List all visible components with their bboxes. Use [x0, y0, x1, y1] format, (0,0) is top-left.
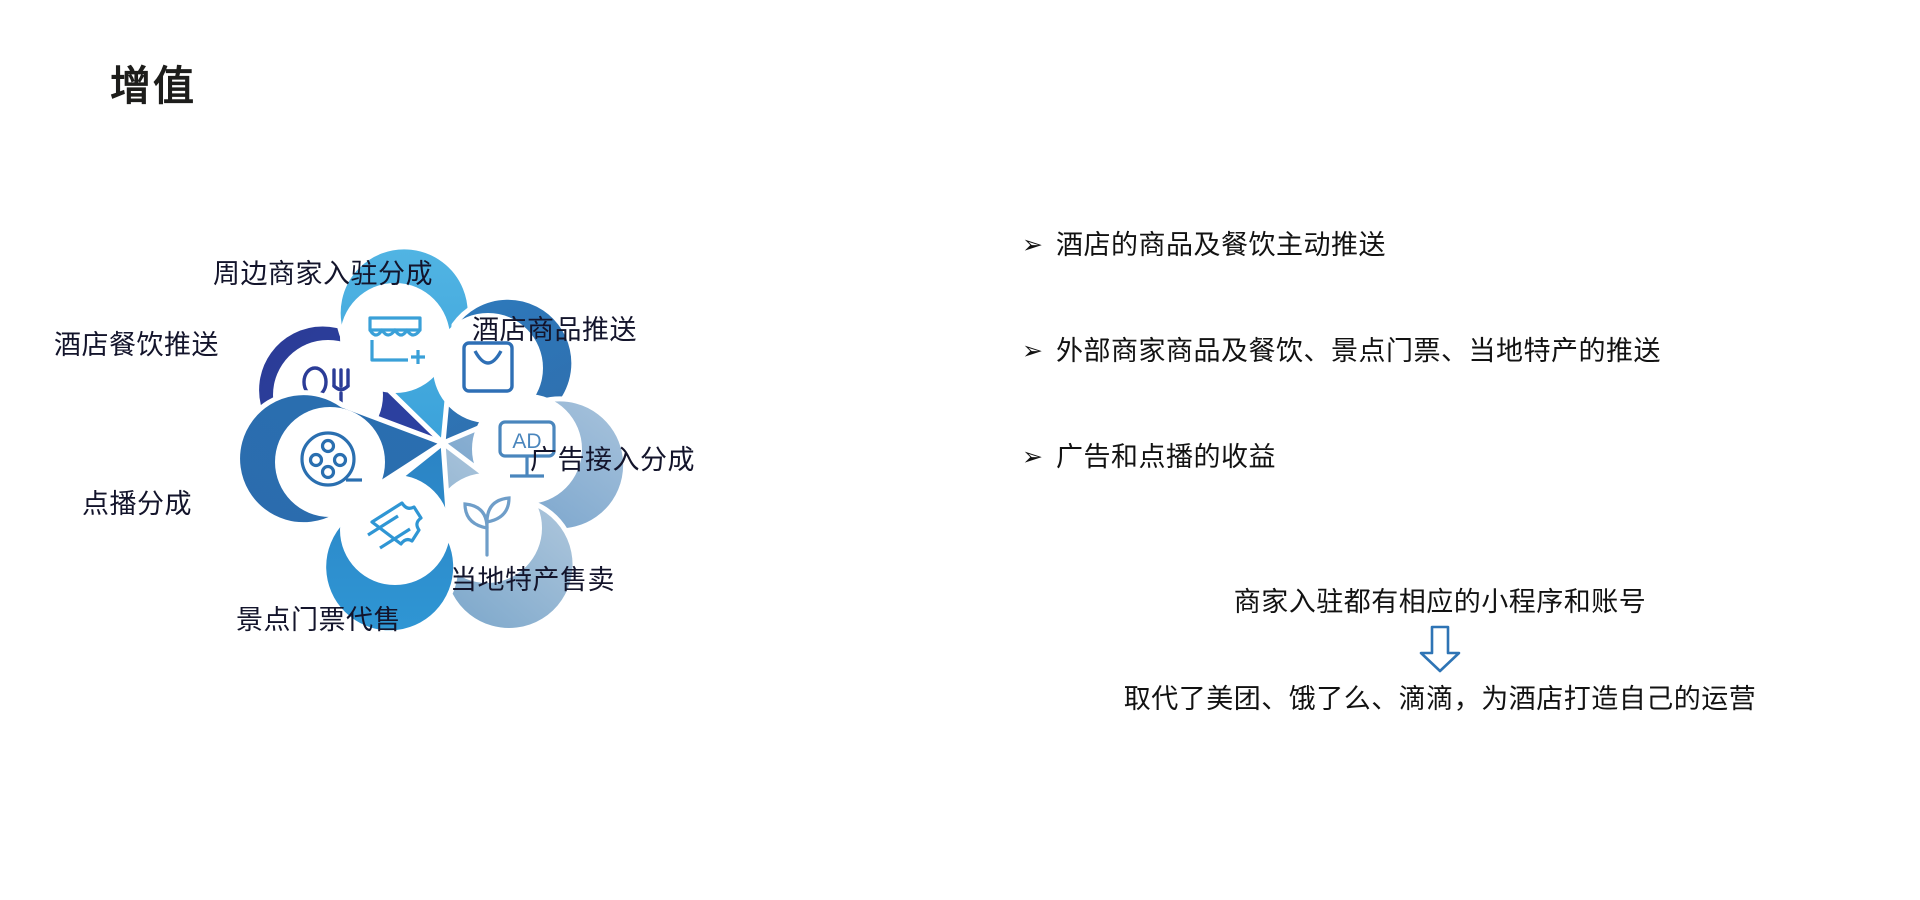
petal-label-local-specialty-sale: 当地特产售卖	[450, 558, 615, 597]
bullet-item: ➢ 酒店的商品及餐饮主动推送	[1022, 228, 1842, 262]
bullet-text: 广告和点播的收益	[1056, 440, 1276, 474]
petal-label-hotel-dining-push: 酒店餐饮推送	[54, 323, 219, 362]
conclusion-block: 商家入驻都有相应的小程序和账号 取代了美团、饿了么、滴滴，为酒店打造自己的运营	[1000, 580, 1880, 716]
conclusion-top-text: 商家入驻都有相应的小程序和账号	[1000, 580, 1880, 619]
conclusion-bottom-text: 取代了美团、饿了么、滴滴，为酒店打造自己的运营	[1000, 677, 1880, 716]
petal-label-attraction-ticket-agency: 景点门票代售	[236, 598, 401, 637]
petal-label-ad-revenue-share: 广告接入分成	[530, 438, 695, 477]
arrow-down-icon	[1417, 625, 1463, 673]
petal-icon-disc	[275, 407, 385, 517]
bullet-item: ➢ 外部商家商品及餐饮、景点门票、当地特产的推送	[1022, 334, 1842, 368]
arrow-bullet-icon: ➢	[1022, 440, 1056, 474]
petal-icon-disc	[340, 283, 450, 393]
six-petal-flower-diagram: AD	[50, 210, 870, 850]
petal-label-hotel-goods-push: 酒店商品推送	[472, 308, 637, 347]
petal-label-vod-revenue-share: 点播分成	[82, 482, 192, 521]
flower-center	[439, 439, 447, 447]
bullet-text: 酒店的商品及餐饮主动推送	[1056, 228, 1386, 262]
arrow-bullet-icon: ➢	[1022, 228, 1056, 262]
flower-svg: AD	[50, 210, 870, 850]
slide-root: 增值	[0, 0, 1920, 900]
petal-label-merchant-settle: 周边商家入驻分成	[213, 252, 433, 291]
bullet-item: ➢ 广告和点播的收益	[1022, 440, 1842, 474]
bullet-text: 外部商家商品及餐饮、景点门票、当地特产的推送	[1056, 334, 1661, 368]
arrow-bullet-icon: ➢	[1022, 334, 1056, 368]
page-title: 增值	[110, 52, 196, 112]
bullet-list: ➢ 酒店的商品及餐饮主动推送 ➢ 外部商家商品及餐饮、景点门票、当地特产的推送 …	[1022, 228, 1842, 546]
